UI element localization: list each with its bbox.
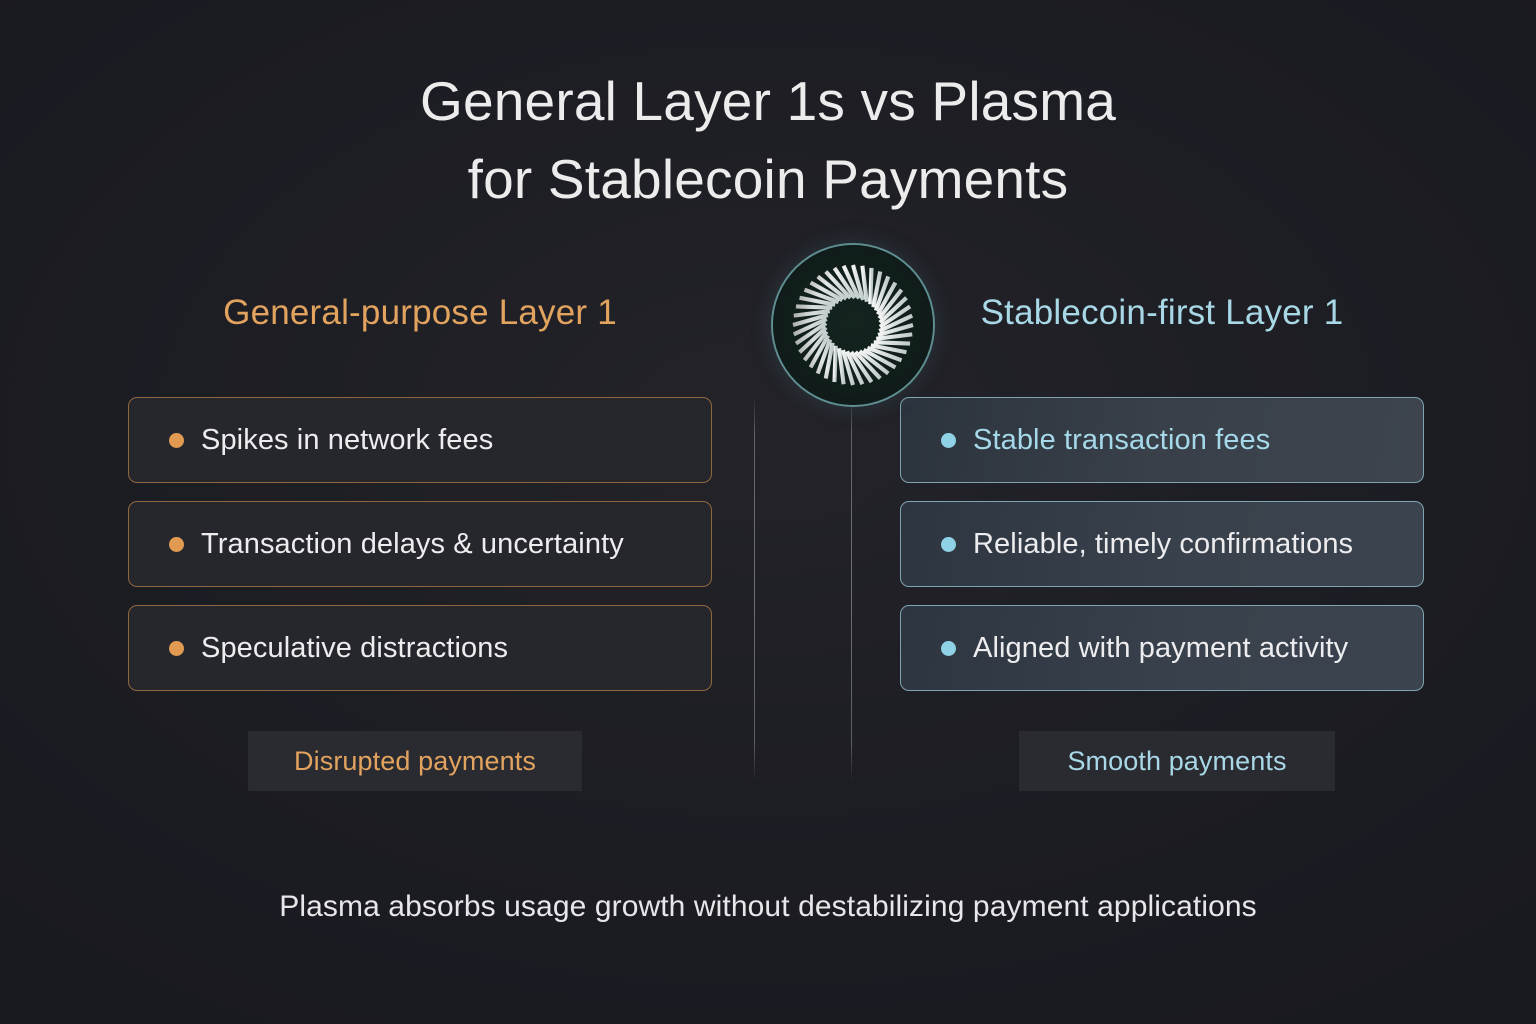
bullet-dot-icon <box>941 641 956 656</box>
column-general-purpose: Spikes in network fees Transaction delay… <box>128 397 712 691</box>
card-left-1-label: Spikes in network fees <box>201 424 493 457</box>
column-heading-stablecoin-first: Stablecoin-first Layer 1 <box>900 293 1424 333</box>
bullet-dot-icon <box>169 537 184 552</box>
outcome-chip-disrupted-payments[interactable]: Disrupted payments <box>248 731 582 791</box>
card-right-2-label: Reliable, timely confirmations <box>973 528 1353 561</box>
card-left-3[interactable]: Speculative distractions <box>128 605 712 691</box>
card-left-3-label: Speculative distractions <box>201 632 508 665</box>
divider-line-left <box>754 396 755 781</box>
page-title-line-1: General Layer 1s vs Plasma <box>0 62 1536 140</box>
bullet-dot-icon <box>169 641 184 656</box>
card-right-1[interactable]: Stable transaction fees <box>900 397 1424 483</box>
bullet-dot-icon <box>169 433 184 448</box>
card-left-2[interactable]: Transaction delays & uncertainty <box>128 501 712 587</box>
footer-caption: Plasma absorbs usage growth without dest… <box>0 890 1536 924</box>
column-heading-general-purpose: General-purpose Layer 1 <box>128 293 712 333</box>
page-title: General Layer 1s vs Plasma for Stablecoi… <box>0 62 1536 218</box>
card-right-3-label: Aligned with payment activity <box>973 632 1348 665</box>
card-right-3[interactable]: Aligned with payment activity <box>900 605 1424 691</box>
card-right-2[interactable]: Reliable, timely confirmations <box>900 501 1424 587</box>
outcome-chip-smooth-payments[interactable]: Smooth payments <box>1019 731 1335 791</box>
page-title-line-2: for Stablecoin Payments <box>0 140 1536 218</box>
slide-root: { "title": { "line1": "General Layer 1s … <box>0 0 1536 1024</box>
bullet-dot-icon <box>941 537 956 552</box>
bullet-dot-icon <box>941 433 956 448</box>
column-stablecoin-first: Stable transaction fees Reliable, timely… <box>900 397 1424 691</box>
card-left-2-label: Transaction delays & uncertainty <box>201 528 624 561</box>
card-right-1-label: Stable transaction fees <box>973 424 1270 457</box>
plasma-aperture-logo-icon <box>773 245 933 405</box>
card-left-1[interactable]: Spikes in network fees <box>128 397 712 483</box>
divider-line-right <box>851 396 852 781</box>
